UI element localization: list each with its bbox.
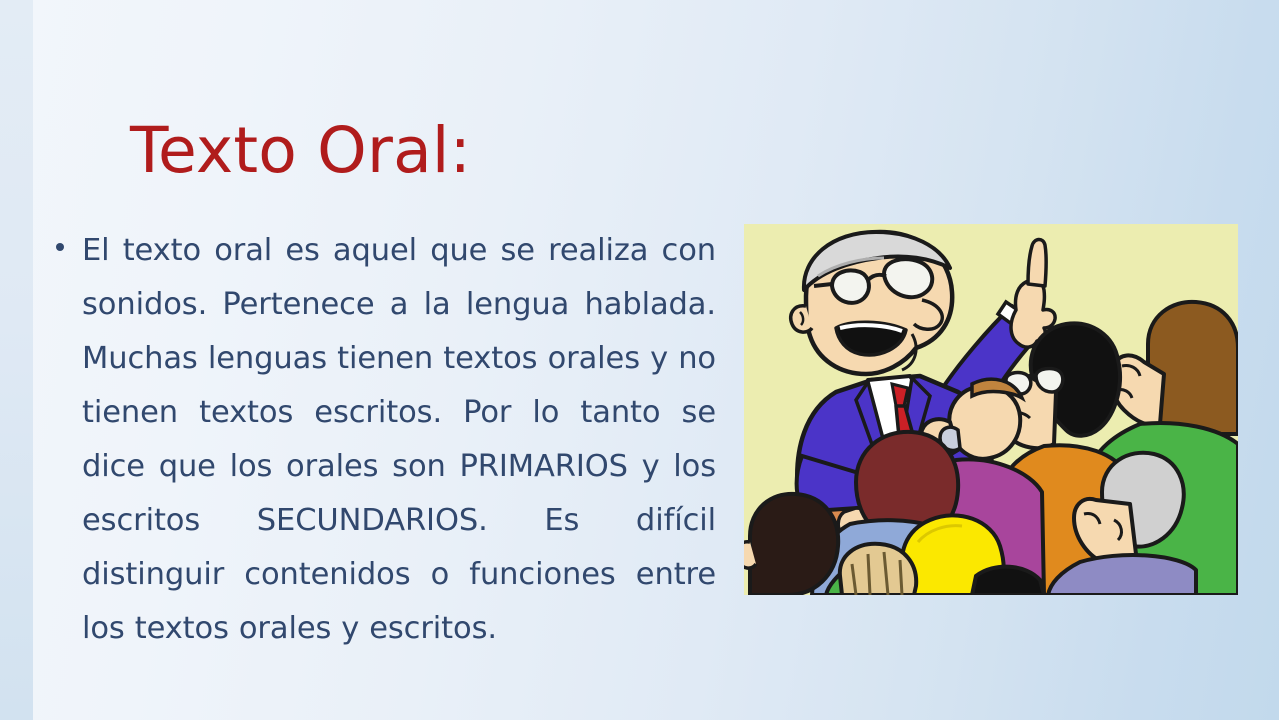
bullet-point-icon: [56, 243, 64, 251]
audience-member-dark-hair: [744, 494, 838, 595]
slide-left-accent-band: [0, 0, 33, 720]
slide-body: El texto oral es aquel que se realiza co…: [52, 193, 716, 686]
page-title: Texto Oral:: [130, 118, 471, 184]
list-item: El texto oral es aquel que se realiza co…: [52, 224, 716, 656]
presentation-slide: Texto Oral: El texto oral es aquel que s…: [0, 0, 1279, 720]
body-paragraph: El texto oral es aquel que se realiza co…: [82, 224, 716, 656]
illustration-speaker-and-audience: [744, 224, 1238, 595]
cartoon-speaker-illustration: [744, 224, 1238, 595]
